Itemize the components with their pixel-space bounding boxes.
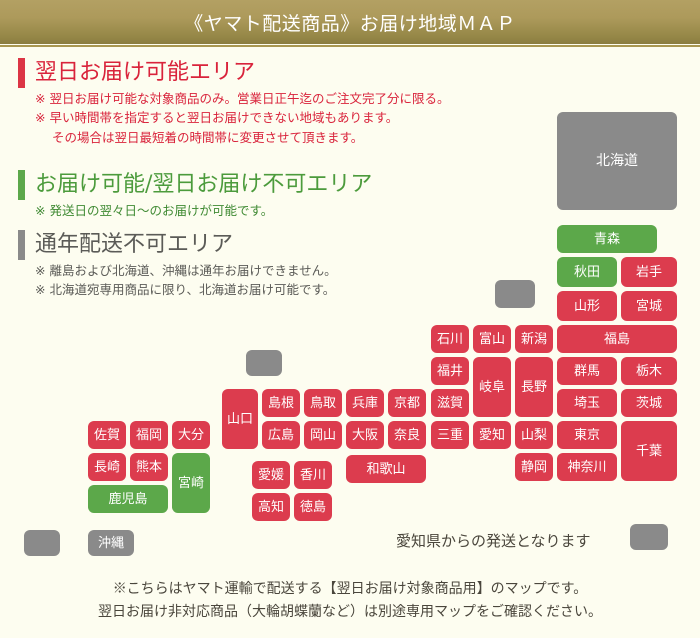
prefecture-tile-群馬: 群馬 bbox=[557, 357, 617, 385]
prefecture-tile-静岡: 静岡 bbox=[515, 453, 553, 481]
prefecture-tile-石川: 石川 bbox=[431, 325, 469, 353]
prefecture-tile-大阪: 大阪 bbox=[346, 421, 384, 449]
prefecture-tile-山口: 山口 bbox=[222, 389, 258, 449]
prefecture-tile-新潟: 新潟 bbox=[515, 325, 553, 353]
prefecture-tile-福岡: 福岡 bbox=[130, 421, 168, 449]
remote-island-tile bbox=[495, 280, 535, 308]
prefecture-tile-富山: 富山 bbox=[473, 325, 511, 353]
prefecture-tile-鳥取: 鳥取 bbox=[304, 389, 342, 417]
prefecture-tile-秋田: 秋田 bbox=[557, 257, 617, 287]
prefecture-tile-沖縄: 沖縄 bbox=[88, 530, 134, 556]
delivery-area-map-page: 《ヤマト配送商品》お届け地域ＭＡＰ 翌日お届け可能エリア※ 翌日お届け可能な対象… bbox=[0, 0, 700, 638]
prefecture-tile-兵庫: 兵庫 bbox=[346, 389, 384, 417]
remote-island-tile bbox=[630, 524, 668, 550]
prefecture-tile-佐賀: 佐賀 bbox=[88, 421, 126, 449]
prefecture-tile-奈良: 奈良 bbox=[388, 421, 426, 449]
prefecture-tile-東京: 東京 bbox=[557, 421, 617, 449]
prefecture-tile-三重: 三重 bbox=[431, 421, 469, 449]
prefecture-tile-福島: 福島 bbox=[557, 325, 677, 353]
prefecture-tile-栃木: 栃木 bbox=[621, 357, 677, 385]
prefecture-tile-神奈川: 神奈川 bbox=[557, 453, 617, 481]
prefecture-tile-長野: 長野 bbox=[515, 357, 553, 417]
prefecture-tile-宮城: 宮城 bbox=[621, 291, 677, 321]
prefecture-tile-山梨: 山梨 bbox=[515, 421, 553, 449]
prefecture-tile-福井: 福井 bbox=[431, 357, 469, 385]
footer-notes: ※こちらはヤマト運輸で配送する【翌日お届け対象商品用】のマップです。翌日お届け非… bbox=[0, 578, 700, 624]
prefecture-tile-高知: 高知 bbox=[252, 493, 290, 521]
prefecture-tile-山形: 山形 bbox=[557, 291, 617, 321]
prefecture-tile-和歌山: 和歌山 bbox=[346, 455, 426, 483]
prefecture-tile-香川: 香川 bbox=[294, 461, 332, 489]
footer-note-line: ※こちらはヤマト運輸で配送する【翌日お届け対象商品用】のマップです。 bbox=[0, 578, 700, 601]
ship-from-note: 愛知県からの発送となります bbox=[396, 530, 591, 551]
prefecture-tile-大分: 大分 bbox=[172, 421, 210, 449]
prefecture-tile-岐阜: 岐阜 bbox=[473, 357, 511, 417]
prefecture-tile-広島: 広島 bbox=[262, 421, 300, 449]
prefecture-tile-千葉: 千葉 bbox=[621, 421, 677, 481]
prefecture-tile-岡山: 岡山 bbox=[304, 421, 342, 449]
prefecture-tile-宮崎: 宮崎 bbox=[172, 453, 210, 513]
prefecture-tile-熊本: 熊本 bbox=[130, 453, 168, 481]
prefecture-tile-茨城: 茨城 bbox=[621, 389, 677, 417]
prefecture-tile-岩手: 岩手 bbox=[621, 257, 677, 287]
prefecture-tile-北海道: 北海道 bbox=[557, 112, 677, 210]
prefecture-tile-京都: 京都 bbox=[388, 389, 426, 417]
prefecture-tile-滋賀: 滋賀 bbox=[431, 389, 469, 417]
prefecture-tile-長崎: 長崎 bbox=[88, 453, 126, 481]
prefecture-tile-愛知: 愛知 bbox=[473, 421, 511, 449]
prefecture-tile-愛媛: 愛媛 bbox=[252, 461, 290, 489]
prefecture-tile-島根: 島根 bbox=[262, 389, 300, 417]
prefecture-tile-鹿児島: 鹿児島 bbox=[88, 485, 168, 513]
prefecture-tile-青森: 青森 bbox=[557, 225, 657, 253]
prefecture-tile-徳島: 徳島 bbox=[294, 493, 332, 521]
remote-island-tile bbox=[246, 350, 282, 376]
japan-prefecture-map: 北海道青森秋田岩手山形宮城石川富山新潟福島福井岐阜長野群馬栃木滋賀埼玉茨城三重愛… bbox=[0, 0, 700, 638]
footer-note-line: 翌日お届け非対応商品（大輪胡蝶蘭など）は別途専用マップをご確認ください。 bbox=[0, 601, 700, 624]
prefecture-tile-埼玉: 埼玉 bbox=[557, 389, 617, 417]
remote-island-tile bbox=[24, 530, 60, 556]
